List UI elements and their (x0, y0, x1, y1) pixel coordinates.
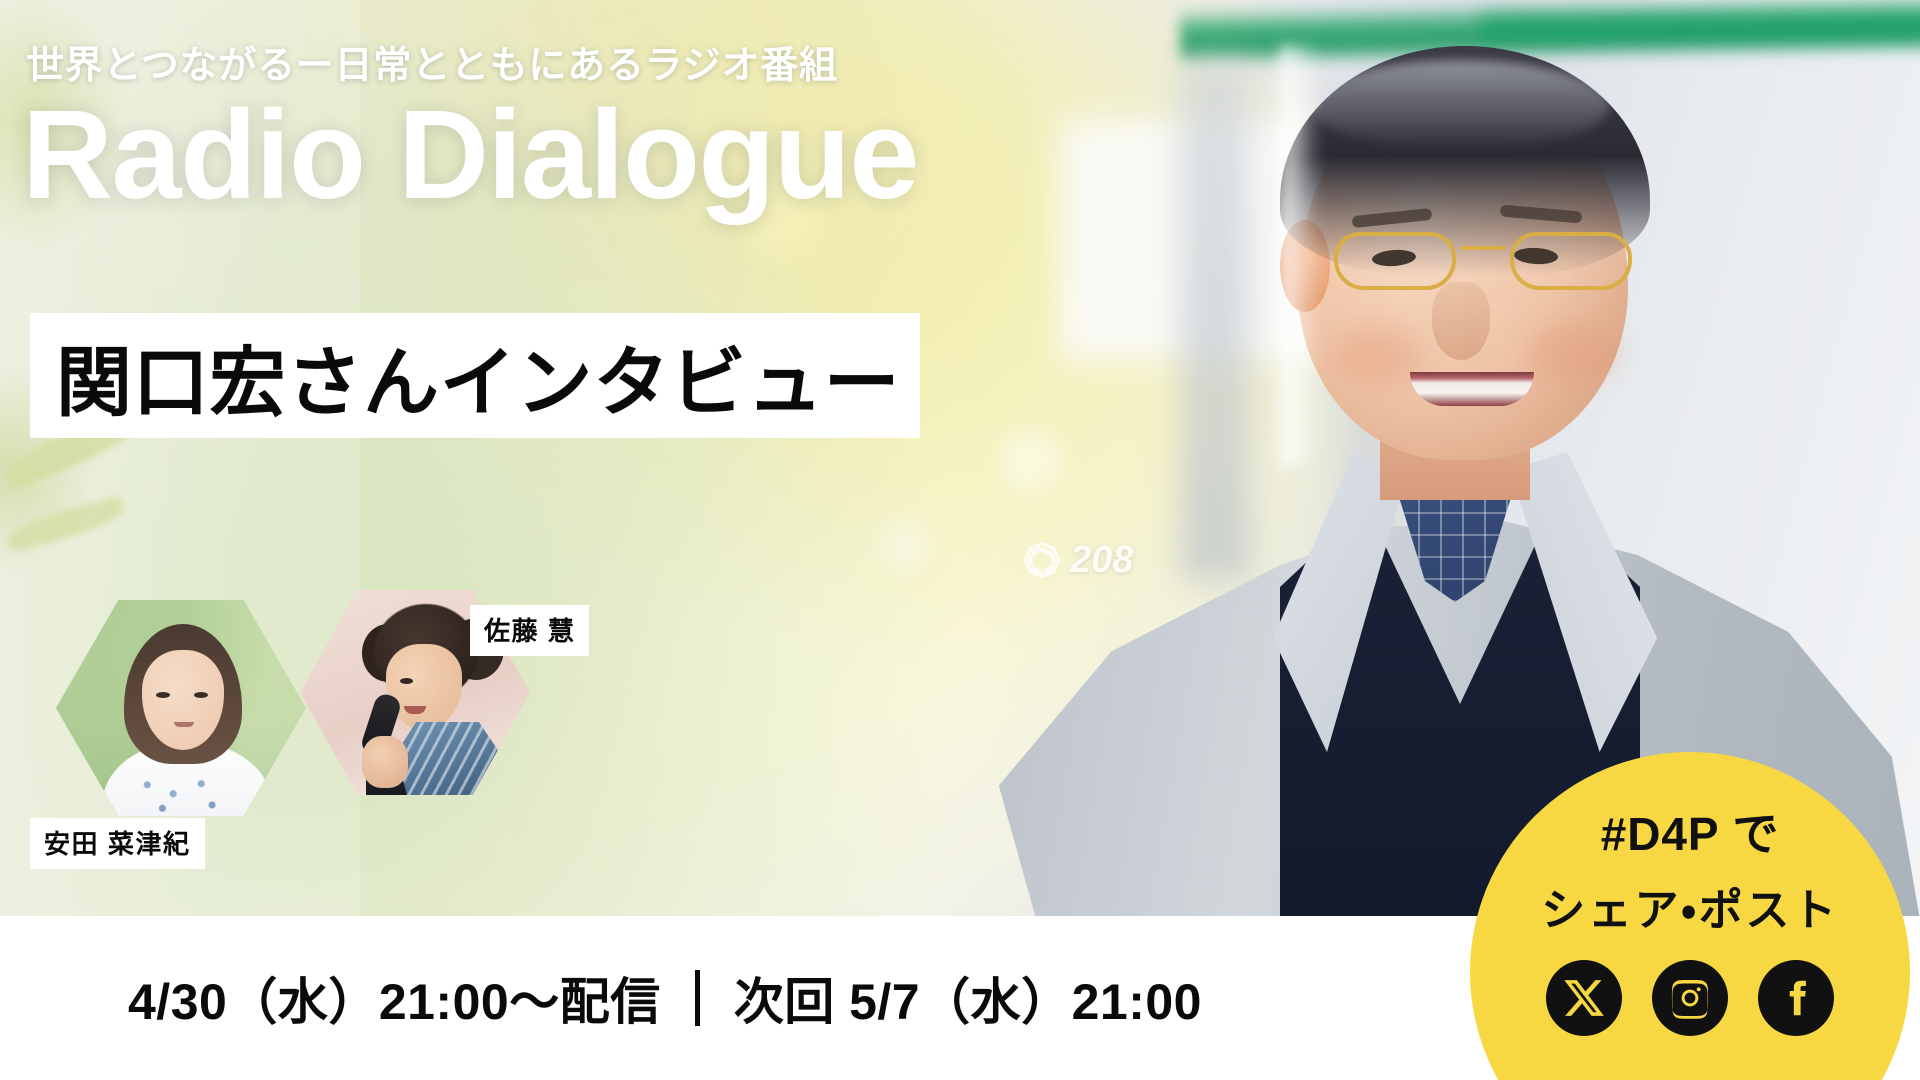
yasuda-eye-left (156, 692, 170, 698)
schedule-text-group: 4/30（水）21:00〜配信 次回 5/7（水）21:00 (0, 962, 1202, 1034)
schedule-next: 次回 5/7（水）21:00 (734, 962, 1202, 1034)
guest-nose (1432, 282, 1490, 360)
instagram-icon[interactable] (1652, 960, 1728, 1036)
yasuda-mouth (174, 722, 194, 727)
share-action-line: シェア・ポスト (1541, 874, 1838, 938)
episode-title: 関口宏さんインタビュー (30, 321, 900, 431)
host-name-yasuda: 安田 菜津紀 (30, 818, 205, 869)
share-hashtag-line: #D4P で (1601, 798, 1780, 864)
facebook-icon[interactable] (1758, 960, 1834, 1036)
guest-rim-light (1280, 46, 1320, 466)
program-wordmark: Radio Dialogue (22, 92, 918, 218)
program-tagline: 世界とつながるー日常とともにあるラジオ番組 (26, 34, 838, 89)
aperture-icon (1022, 540, 1062, 580)
sato-hand (362, 736, 408, 788)
background-bokeh-dot-2 (880, 520, 930, 570)
host-name-sato: 佐藤 慧 (470, 605, 589, 656)
aperture-number: 208 (1070, 541, 1133, 579)
guest-hair-highlight (1310, 60, 1610, 150)
poster-canvas: 世界とつながるー日常とともにあるラジオ番組 Radio Dialogue 関口宏… (0, 0, 1920, 1080)
aperture-watermark: 208 (1022, 540, 1133, 580)
yasuda-eye-right (194, 692, 208, 698)
glasses-bridge (1460, 246, 1506, 250)
guest-glasses (1328, 226, 1638, 300)
episode-title-box: 関口宏さんインタビュー (30, 313, 920, 438)
glasses-lens-left (1334, 232, 1456, 290)
guest-cheek-left (1332, 326, 1422, 386)
yasuda-blouse-pattern (130, 768, 238, 816)
sato-face (386, 644, 462, 730)
schedule-divider (695, 970, 700, 1026)
sato-eye (400, 678, 413, 684)
glasses-lens-right (1510, 232, 1632, 290)
share-icon-row (1546, 960, 1834, 1036)
guest-mouth (1410, 372, 1534, 406)
guest-cheek-right (1528, 322, 1618, 382)
x-twitter-icon[interactable] (1546, 960, 1622, 1036)
schedule-current: 4/30（水）21:00〜配信 (128, 962, 661, 1034)
